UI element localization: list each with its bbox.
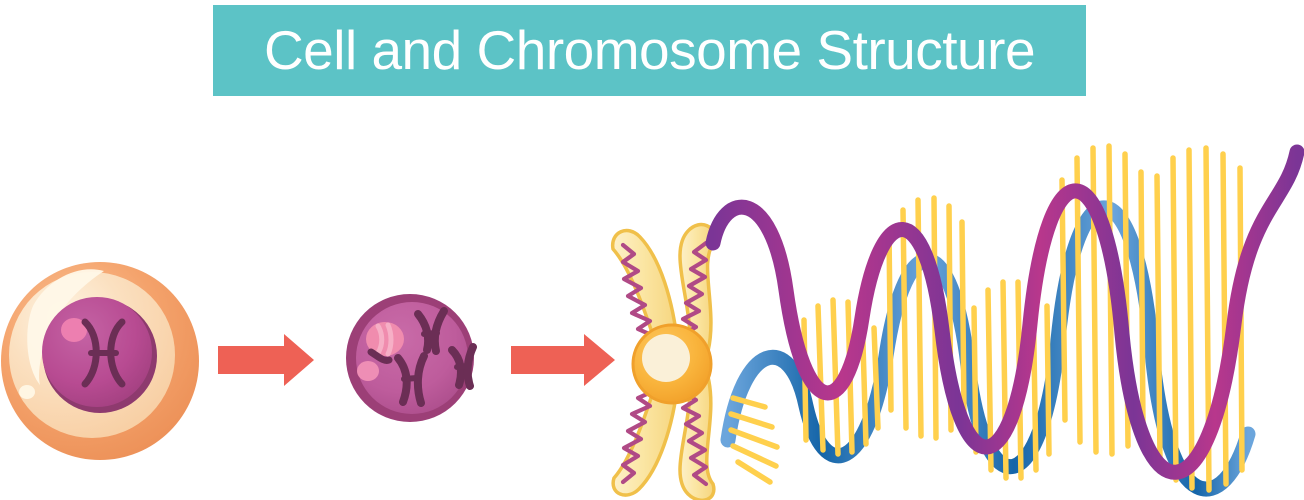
stage-nucleus — [346, 294, 482, 442]
chromosome-strand — [404, 378, 417, 379]
chromosome-strand — [424, 333, 437, 334]
diagram-canvas: Cell and Chromosome Structure — [0, 0, 1304, 500]
nucleus-body — [356, 302, 468, 414]
nucleolus-icon-small — [357, 361, 379, 381]
stage-dna-helix — [713, 146, 1297, 490]
cytoplasm-highlight-small — [19, 385, 35, 399]
stage-chromosome — [613, 225, 715, 500]
arrow-1 — [218, 334, 314, 386]
chromosome-strand — [457, 366, 468, 367]
illustration-svg — [0, 0, 1304, 500]
centromere-core — [642, 334, 690, 382]
arrow-2 — [511, 334, 615, 386]
stage-cell — [1, 262, 201, 460]
